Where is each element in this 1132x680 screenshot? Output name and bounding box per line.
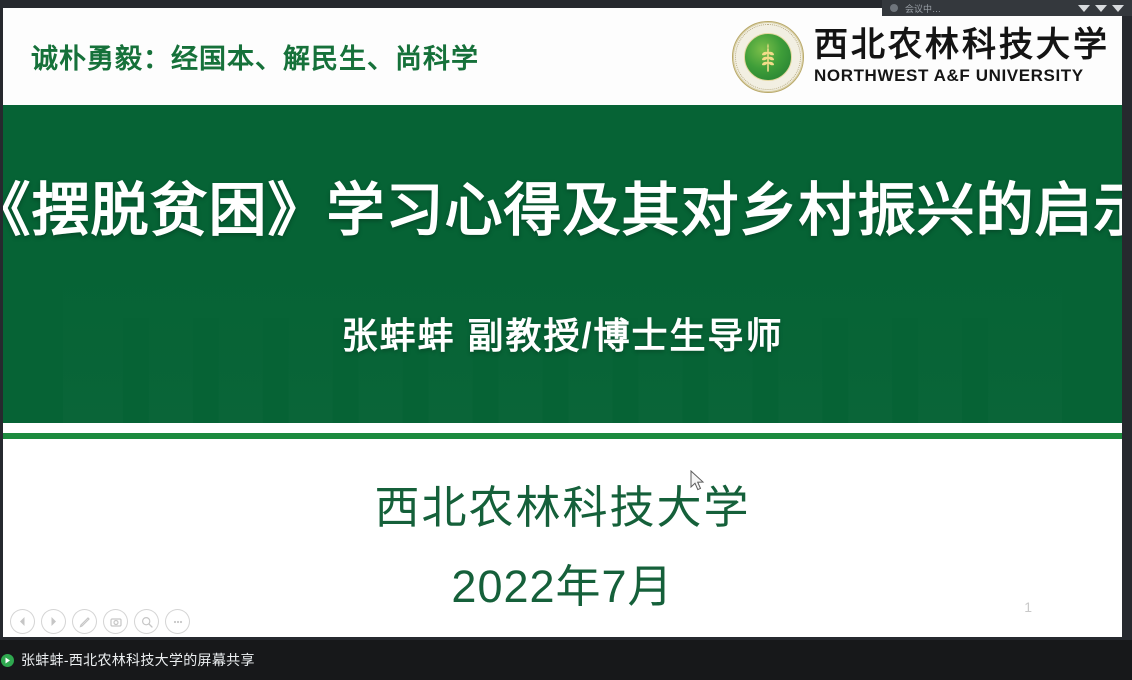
chevron-down-icon[interactable] [1112, 5, 1124, 12]
screen-share-window: 诚朴勇毅：经国本、解民生、尚科学 [0, 0, 1132, 680]
screen-share-label: 张蚌蚌-西北农林科技大学的屏幕共享 [21, 650, 255, 670]
screen-share-icon [0, 653, 15, 668]
slide-title: 《摆脱贫困》学习心得及其对乡村振兴的启示 [3, 163, 1122, 247]
slide-hero-panel: 《摆脱贫困》学习心得及其对乡村振兴的启示 张蚌蚌 副教授/博士生导师 [3, 105, 1122, 423]
overlay-label: 会议中… [905, 2, 941, 15]
meeting-controls-overlay[interactable]: 会议中… [882, 0, 1132, 16]
wheat-icon [751, 40, 785, 74]
slide-page-number: 1 [1024, 599, 1032, 615]
magnifier-icon [140, 615, 154, 629]
zoom-button[interactable] [134, 609, 159, 634]
university-emblem-icon [732, 21, 804, 93]
university-motto: 诚朴勇毅：经国本、解民生、尚科学 [31, 37, 479, 76]
annotate-button[interactable] [72, 609, 97, 634]
presentation-date: 2022年7月 [451, 550, 673, 615]
chevron-left-icon [16, 615, 29, 628]
pen-icon [78, 615, 92, 629]
chevron-down-icon[interactable] [1078, 5, 1090, 12]
chevron-down-icon[interactable] [1095, 5, 1107, 12]
slide-header: 诚朴勇毅：经国本、解民生、尚科学 [3, 8, 1122, 105]
screenshot-button[interactable] [103, 609, 128, 634]
ellipsis-icon [171, 615, 185, 629]
next-slide-button[interactable] [41, 609, 66, 634]
previous-slide-button[interactable] [10, 609, 35, 634]
screen-share-statusbar: 张蚌蚌-西北农林科技大学的屏幕共享 [0, 640, 1132, 680]
university-name-en: NORTHWEST A&F UNIVERSITY [814, 67, 1110, 84]
presentation-slide[interactable]: 诚朴勇毅：经国本、解民生、尚科学 [3, 8, 1122, 637]
camera-icon [109, 615, 123, 629]
overlay-status-dot [890, 4, 898, 12]
chevron-right-icon [47, 615, 60, 628]
more-options-button[interactable] [165, 609, 190, 634]
university-name-cn: 西北农林科技大学 [814, 29, 1110, 63]
divider-gap [3, 423, 1122, 433]
university-brand: 西北农林科技大学 NORTHWEST A&F UNIVERSITY [732, 21, 1116, 93]
mouse-cursor [690, 470, 706, 492]
overlay-caret-group[interactable] [1078, 5, 1124, 12]
shared-slide-viewport[interactable]: 诚朴勇毅：经国本、解民生、尚科学 [0, 0, 1132, 640]
slide-presenter: 张蚌蚌 副教授/博士生导师 [341, 307, 783, 359]
slide-control-toolbar[interactable] [6, 606, 194, 637]
